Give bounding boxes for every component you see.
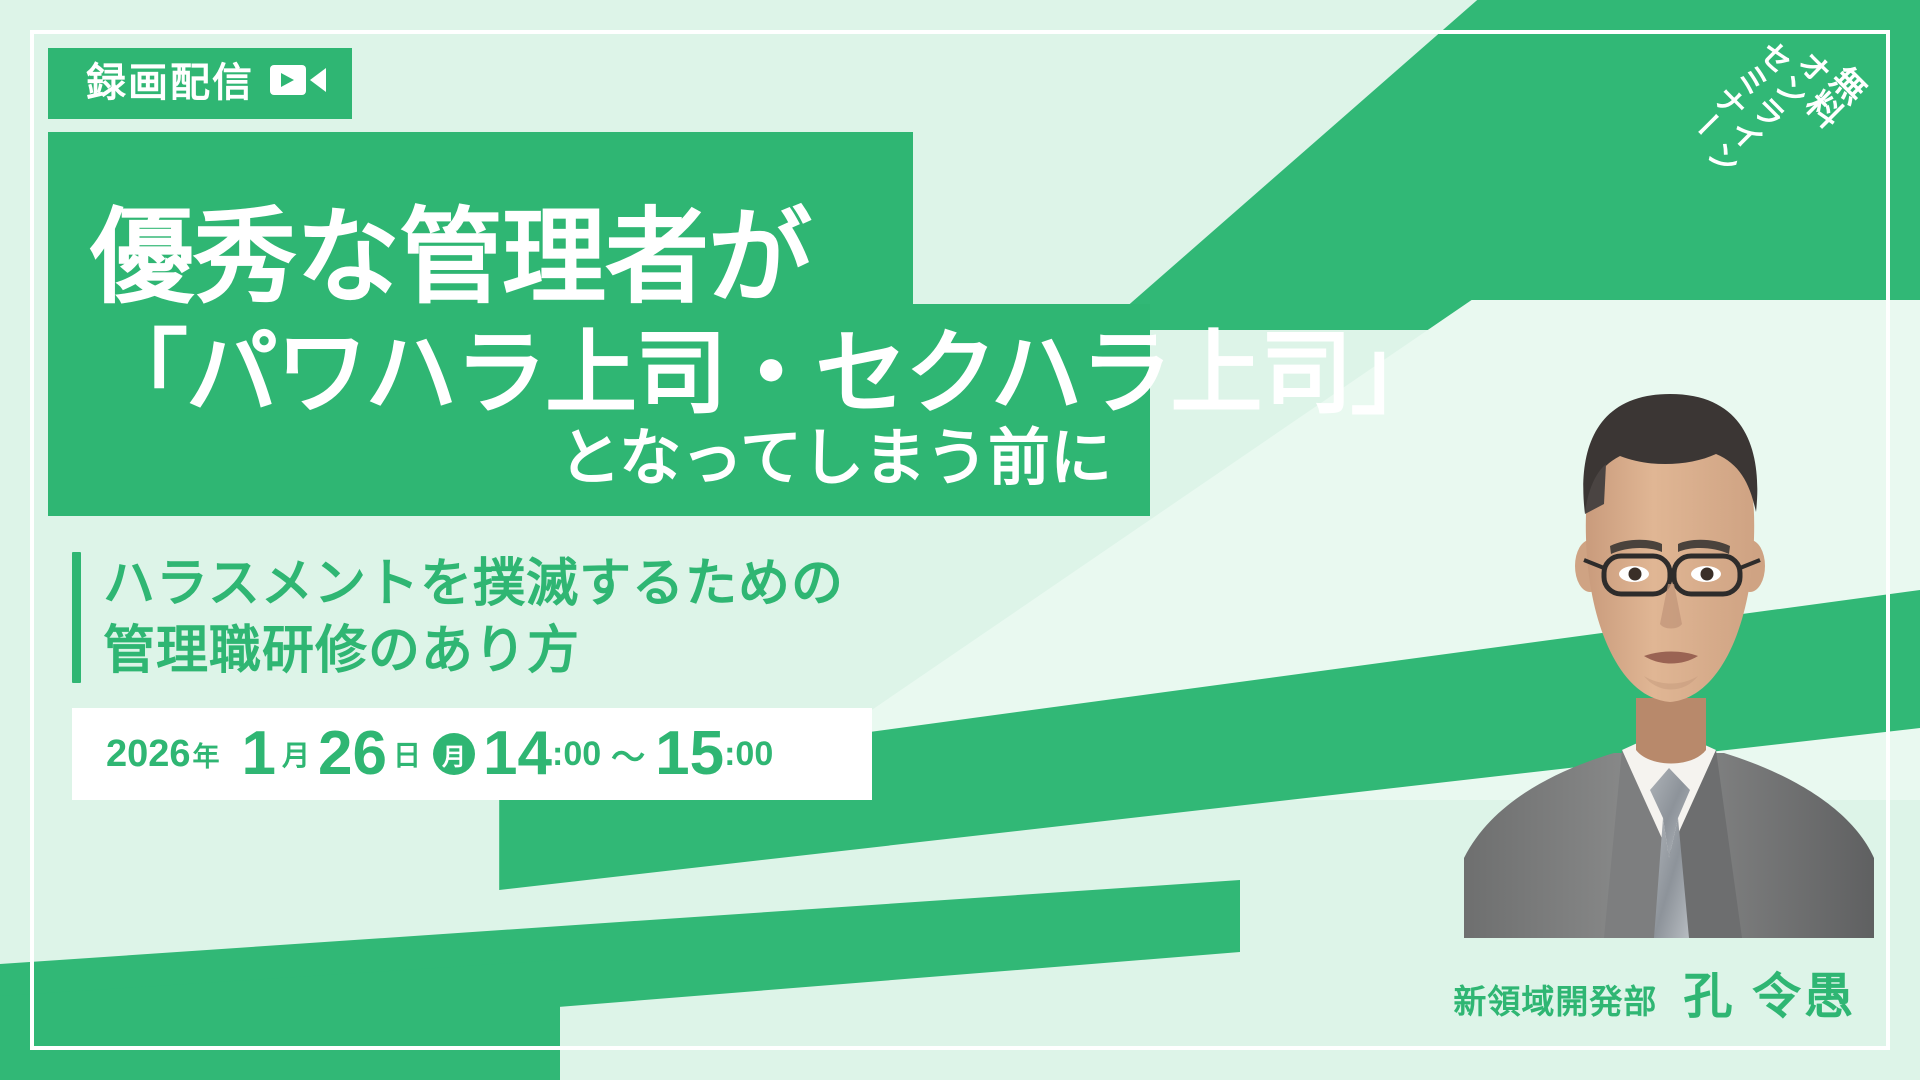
headline-block-two: 「パワハラ上司・セクハラ上司」 となってしまう前に [48, 304, 1150, 516]
speaker-portrait-photo [1454, 298, 1884, 938]
seminar-banner: 録画配信 無料 オンライン セミナー 優秀な管理者が 「パワハラ上司・セクハラ上… [0, 0, 1920, 1080]
video-camera-icon [270, 62, 326, 103]
date-year: 2026 [106, 733, 191, 776]
start-hour: 14 [483, 723, 552, 785]
headline-line-2: 「パワハラ上司・セクハラ上司」 [96, 328, 1440, 420]
subtitle-accent-bar [72, 552, 81, 683]
recorded-delivery-badge: 録画配信 [48, 48, 352, 119]
headline-line-3: となってしまう前に [559, 428, 1112, 490]
date-time-bar: 2026 年 1 月 26 日 月 14 :00 ～ 15 :00 [72, 708, 872, 800]
start-minute: :00 [552, 735, 601, 774]
subtitle-lines: ハラスメントを撲滅するための 管理職研修のあり方 [103, 552, 844, 683]
date-month-unit: 月 [282, 734, 310, 774]
speaker-credit: 新領域開発部 孔 令愚 [1453, 957, 1856, 1028]
end-hour: 15 [655, 723, 724, 785]
portrait-illustration [1454, 298, 1884, 938]
subtitle-block: ハラスメントを撲滅するための 管理職研修のあり方 [72, 552, 844, 683]
speaker-department: 新領域開発部 [1453, 975, 1657, 1023]
date-year-unit: 年 [193, 735, 220, 774]
speaker-name: 孔 令愚 [1683, 957, 1856, 1028]
headline-line-1: 優秀な管理者が [90, 206, 811, 310]
date-month: 1 [242, 723, 276, 785]
date-weekday-badge: 月 [433, 733, 475, 775]
subtitle-line-1: ハラスメントを撲滅するための [103, 554, 844, 615]
end-minute: :00 [724, 735, 773, 774]
date-day-unit: 日 [393, 734, 421, 774]
date-day: 26 [318, 723, 387, 785]
time-range-mark: ～ [611, 730, 645, 779]
recorded-delivery-label: 録画配信 [86, 63, 254, 103]
headline-block-one: 優秀な管理者が [48, 132, 913, 304]
subtitle-line-2: 管理職研修のあり方 [103, 621, 844, 682]
